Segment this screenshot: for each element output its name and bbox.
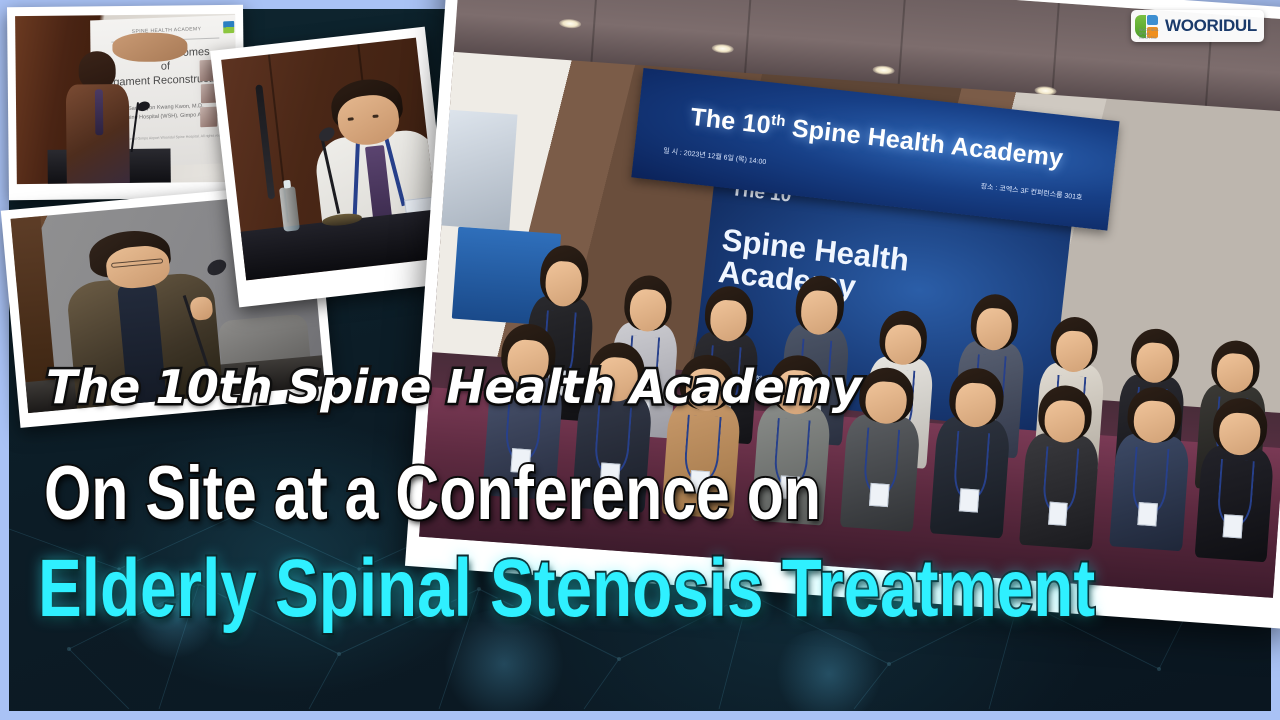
glow-dot <box>769 629 889 711</box>
attendee-seated <box>1109 384 1193 551</box>
side-monitor <box>424 109 518 230</box>
attendee-seated <box>1019 383 1103 550</box>
panel-scene <box>221 38 441 281</box>
attendee-seated <box>571 340 656 512</box>
ceiling-light-icon <box>559 18 582 29</box>
water-bottle <box>279 186 300 232</box>
glow-dot <box>439 609 569 711</box>
thumbnail-canvas: SPINE HEALTH ACADEMY Clinical Outcomes o… <box>0 0 1280 720</box>
slide-logo-icon <box>223 21 234 33</box>
glow-dot <box>129 569 219 659</box>
attendee-seated <box>930 366 1015 538</box>
speaker-figure <box>64 49 131 184</box>
banner-date: 일 시 : 2023년 12월 6일 (목) 14:00 <box>663 145 767 166</box>
attendee-seated <box>661 352 745 519</box>
attendee-seated <box>751 353 836 525</box>
banner-place: 장소 : 코엑스 3F 컨퍼런스룸 301호 <box>980 181 1083 202</box>
photo-podium-speaker[interactable]: SPINE HEALTH ACADEMY Clinical Outcomes o… <box>7 5 245 200</box>
group-scene: The 10th Spine Health Academy 인슈 척추질환 치료… <box>419 0 1280 598</box>
slide-title-line2: of <box>161 61 170 73</box>
wooridul-logo[interactable]: WOORIDUL SPINE HOSPITAL WOORIDUL <box>1131 10 1264 42</box>
attendee-seated <box>1194 396 1278 563</box>
logo-wordmark: WOORIDUL <box>1165 16 1257 36</box>
podium-scene: SPINE HEALTH ACADEMY Clinical Outcomes o… <box>15 14 237 184</box>
ceiling-light-icon <box>711 43 734 54</box>
mic-speaker-figure <box>69 225 215 408</box>
attendee-seated <box>482 322 567 500</box>
attendee-seated <box>840 365 924 532</box>
microphone-icon <box>204 257 228 279</box>
wooridul-logo-icon: WOORIDUL SPINE HOSPITAL <box>1135 14 1160 39</box>
banner-title: The 10th Spine Health Academy <box>661 99 1093 176</box>
ceiling-light-icon <box>873 65 896 76</box>
photo-group[interactable]: The 10th Spine Health Academy 인슈 척추질환 치료… <box>405 0 1280 629</box>
speaker-face <box>112 33 187 62</box>
photo-panel-speaker[interactable] <box>210 27 454 308</box>
logo-tagline: WOORIDUL SPINE HOSPITAL <box>1139 28 1160 40</box>
